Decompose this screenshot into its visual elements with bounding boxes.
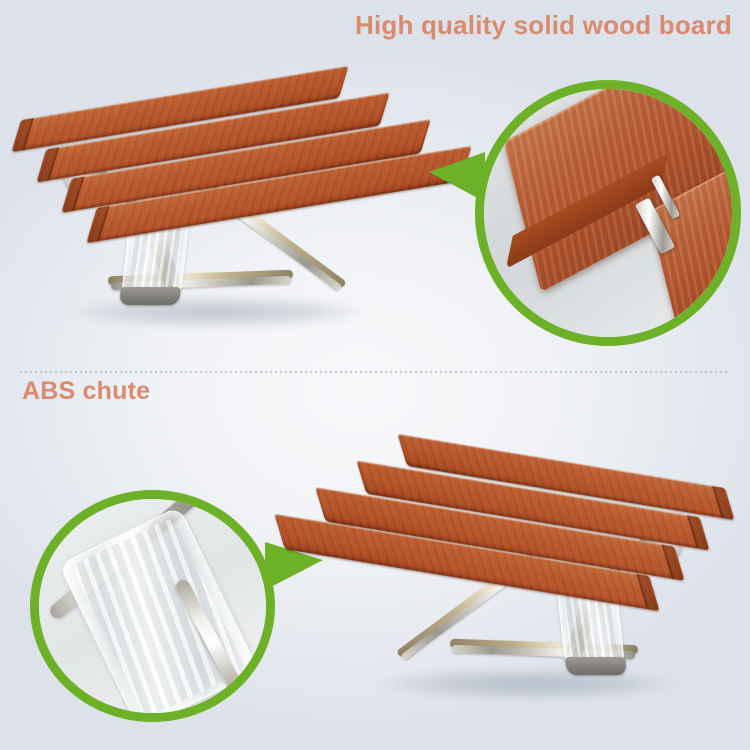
callout-photo-abs-chute xyxy=(30,490,275,722)
callout-ring xyxy=(30,490,275,722)
chute-foot xyxy=(565,657,627,675)
chute-foot xyxy=(119,287,181,305)
section-divider xyxy=(20,371,730,373)
page-title-bottom: ABS chute xyxy=(22,377,150,406)
seat-slats xyxy=(8,70,458,220)
callout-ring xyxy=(475,80,741,346)
callout-abs-chute-detail xyxy=(30,490,275,722)
product-feature-image: High quality solid wood board xyxy=(0,0,750,750)
product-shadow xyxy=(68,296,368,328)
seat-slats xyxy=(288,438,738,588)
product-shadow xyxy=(378,668,678,700)
page-title-top: High quality solid wood board xyxy=(355,10,732,41)
product-image-folding-shower-seat-top xyxy=(8,70,458,360)
callout-photo-wood-board xyxy=(475,80,741,346)
product-image-folding-shower-seat-bottom xyxy=(288,432,738,732)
callout-wood-board-detail xyxy=(475,80,741,346)
